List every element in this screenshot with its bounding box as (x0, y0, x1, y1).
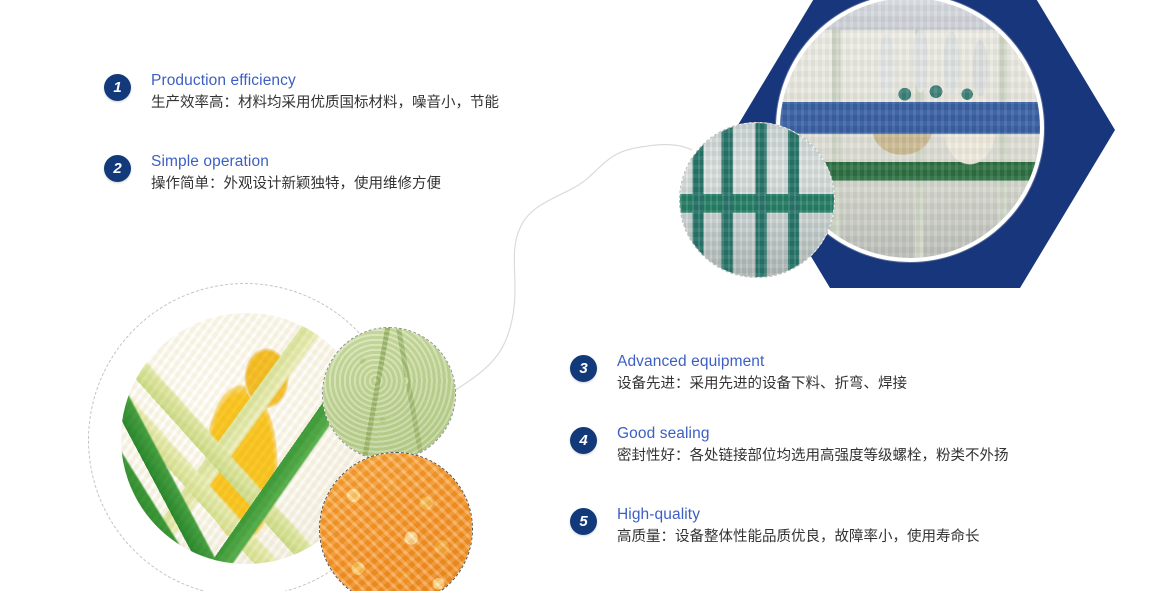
orange-corn-grits-photo (319, 452, 473, 591)
feature-title-1: Production efficiency (151, 71, 499, 91)
feature-badge-2: 2 (104, 155, 131, 182)
feature-description-5: 高质量：设备整体性能品质优良，故障率小，使用寿命长 (617, 526, 980, 548)
feature-description-3: 设备先进：采用先进的设备下料、折弯、焊接 (617, 373, 907, 395)
feature-item-5: 5 High-quality 高质量：设备整体性能品质优良，故障率小，使用寿命长 (570, 508, 980, 548)
feature-title-2: Simple operation (151, 152, 441, 172)
feature-item-1: 1 Production efficiency 生产效率高：材料均采用优质国标材… (104, 74, 499, 114)
feature-badge-1: 1 (104, 74, 131, 101)
feature-description-2: 操作简单：外观设计新颖独特，使用维修方便 (151, 173, 441, 195)
feature-description-1: 生产效率高：材料均采用优质国标材料，噪音小，节能 (151, 92, 499, 114)
feature-item-2: 2 Simple operation 操作简单：外观设计新颖独特，使用维修方便 (104, 155, 441, 195)
feature-title-3: Advanced equipment (617, 352, 907, 372)
green-corn-paste-photo (322, 327, 456, 461)
feature-item-4: 4 Good sealing 密封性好：各处链接部位均选用高强度等级螺栓，粉类不… (570, 427, 1009, 467)
feature-badge-3: 3 (570, 355, 597, 382)
feature-title-4: Good sealing (617, 424, 1009, 444)
feature-item-3: 3 Advanced equipment 设备先进：采用先进的设备下料、折弯、焊… (570, 355, 907, 395)
feature-description-4: 密封性好：各处链接部位均选用高强度等级螺栓，粉类不外扬 (617, 445, 1009, 467)
teal-milling-line-photo (679, 122, 835, 278)
feature-title-5: High-quality (617, 505, 980, 525)
infographic-canvas: 1 Production efficiency 生产效率高：材料均采用优质国标材… (0, 0, 1154, 591)
feature-badge-5: 5 (570, 508, 597, 535)
feature-badge-4: 4 (570, 427, 597, 454)
